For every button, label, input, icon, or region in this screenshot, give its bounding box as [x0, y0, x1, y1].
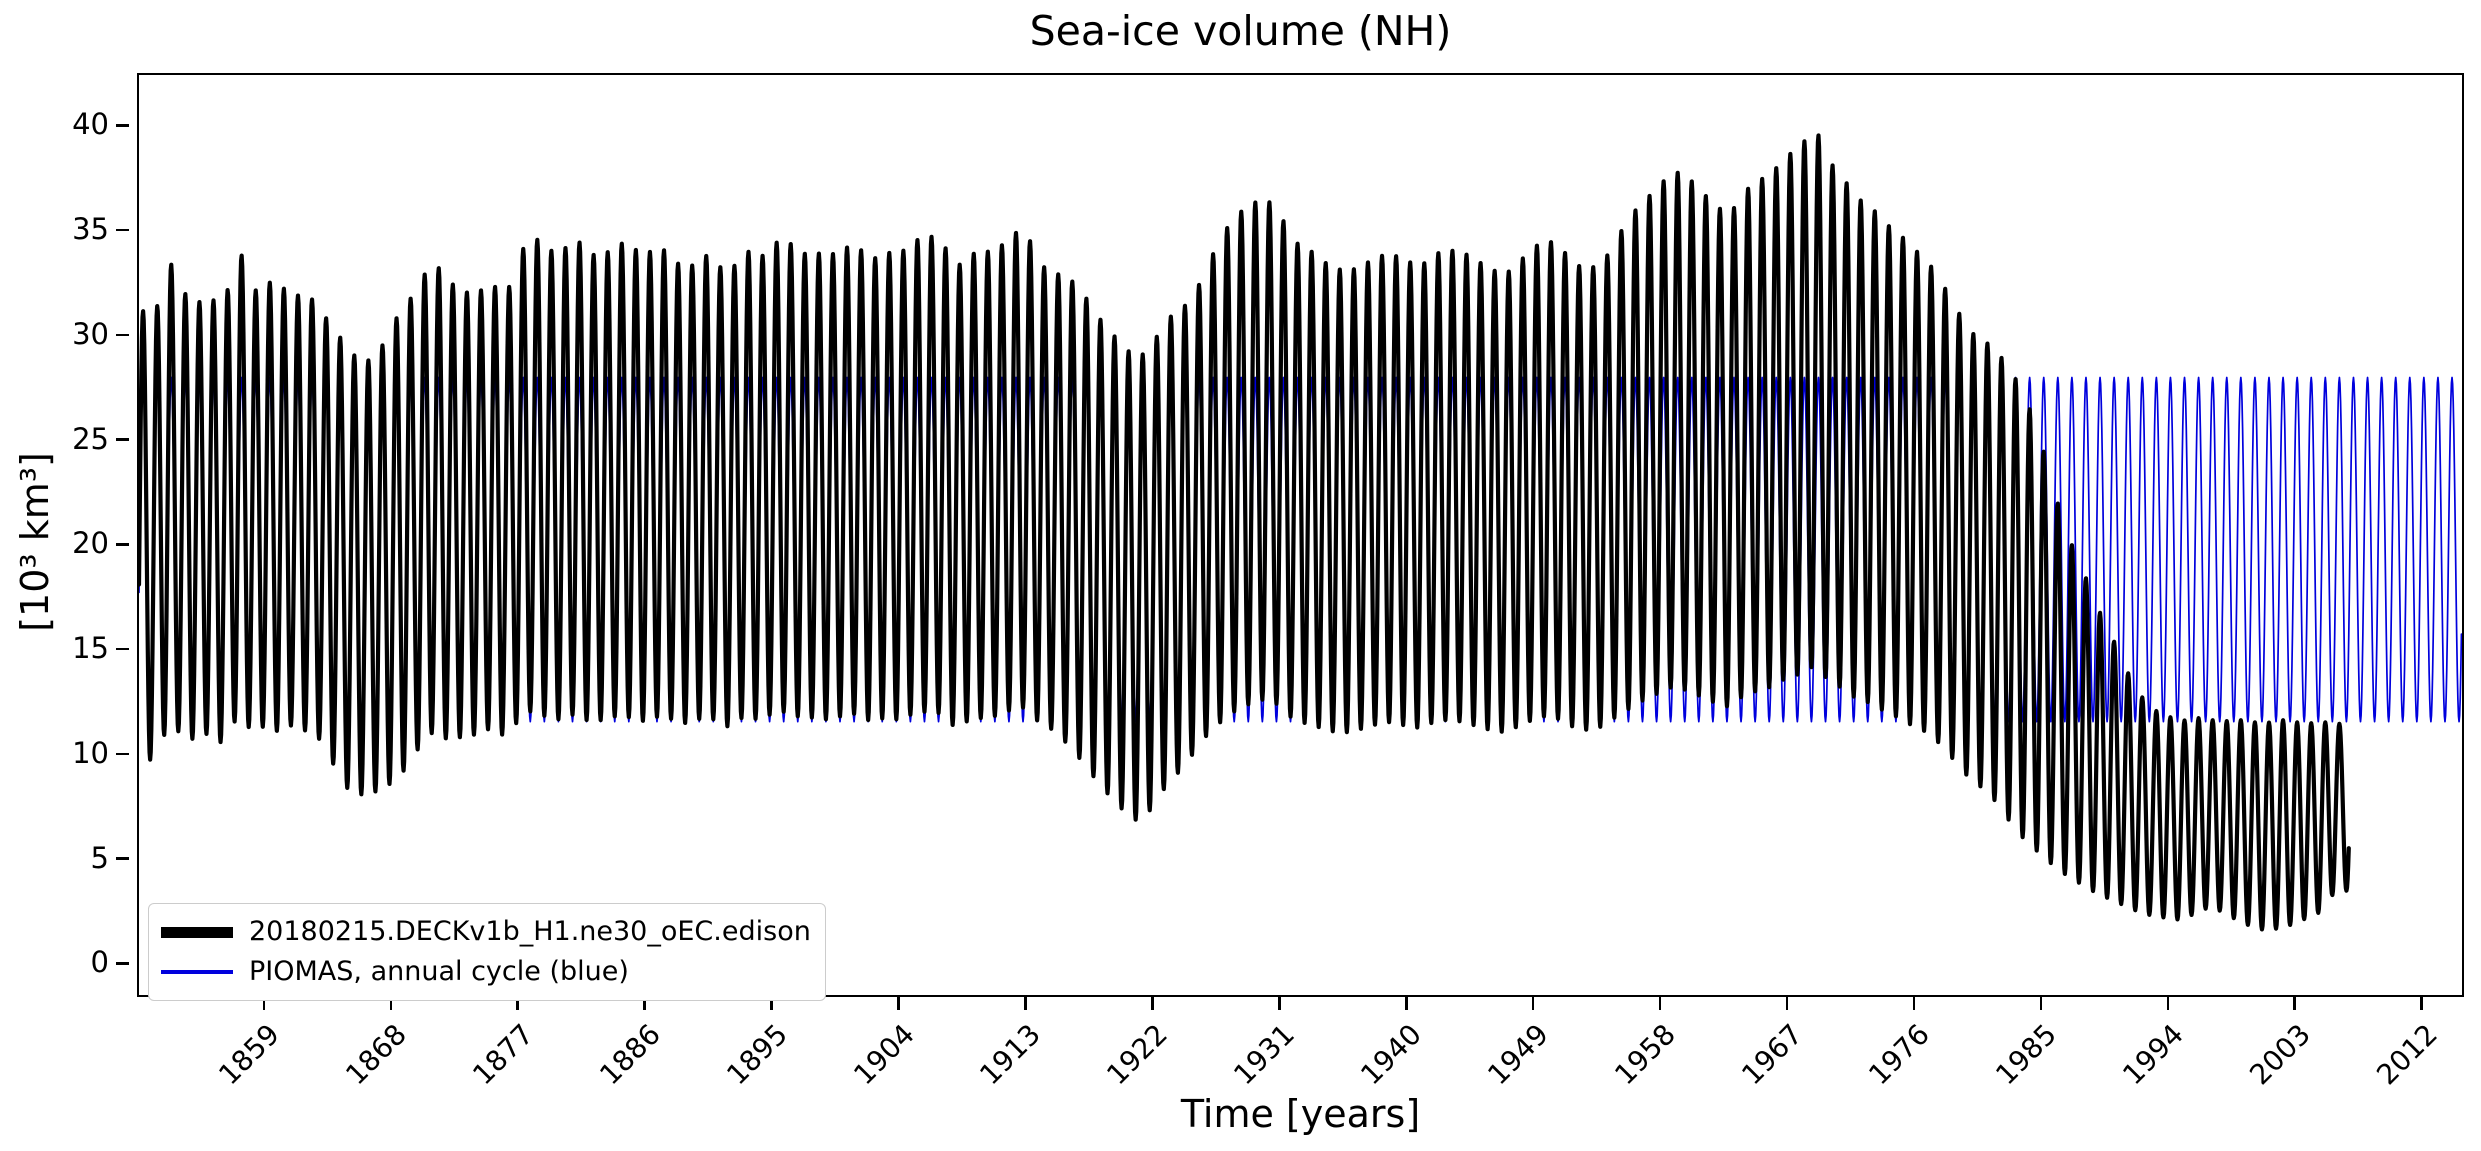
x-tick-mark [1786, 997, 1789, 1010]
x-tick-label: 1940 [1356, 1019, 1428, 1091]
x-tick-label: 1895 [721, 1019, 793, 1091]
x-tick-label: 1958 [1610, 1019, 1682, 1091]
x-axis-label: Time [years] [137, 1092, 2464, 1136]
x-tick-label: 1859 [214, 1019, 286, 1091]
x-tick-mark [1659, 997, 1662, 1010]
x-tick-mark [1405, 997, 1408, 1010]
x-tick-label: 1922 [1102, 1019, 1174, 1091]
x-tick-label: 1868 [340, 1019, 412, 1091]
x-tick-mark [2420, 997, 2423, 1010]
x-tick-label: 1985 [1991, 1019, 2063, 1091]
x-tick-mark [1278, 997, 1281, 1010]
chart-figure: Sea-ice volume (NH) 0510152025303540 185… [0, 0, 2481, 1151]
x-tick-label: 2003 [2244, 1019, 2316, 1091]
legend-item-model[interactable]: 20180215.DECKv1b_H1.ne30_oEC.edison [161, 913, 811, 951]
legend-label-piomas: PIOMAS, annual cycle (blue) [249, 957, 629, 987]
y-axis-label-text: [10³ km³] [13, 452, 57, 632]
x-tick-label: 1994 [2117, 1019, 2189, 1091]
x-tick-label: 1949 [1483, 1019, 1555, 1091]
x-tick-label: 2012 [2371, 1019, 2443, 1091]
x-tick-label: 1976 [1864, 1019, 1936, 1091]
x-tick-label: 1931 [1229, 1019, 1301, 1091]
x-tick-mark [1532, 997, 1535, 1010]
y-axis-label: [10³ km³] [13, 332, 57, 752]
x-tick-mark [1913, 997, 1916, 1010]
legend: 20180215.DECKv1b_H1.ne30_oEC.edison PIOM… [148, 903, 826, 1001]
x-tick-mark [2167, 997, 2170, 1010]
x-tick-label: 1877 [467, 1019, 539, 1091]
legend-item-piomas[interactable]: PIOMAS, annual cycle (blue) [161, 953, 811, 991]
x-tick-mark [897, 997, 900, 1010]
x-tick-mark [1024, 997, 1027, 1010]
x-tick-label: 1904 [848, 1019, 920, 1091]
x-tick-label: 1886 [594, 1019, 666, 1091]
x-tick-mark [2040, 997, 2043, 1010]
legend-label-model: 20180215.DECKv1b_H1.ne30_oEC.edison [249, 917, 811, 947]
legend-swatch-piomas-icon [161, 970, 233, 974]
legend-swatch-model-icon [161, 927, 233, 938]
x-tick-label: 1967 [1737, 1019, 1809, 1091]
x-tick-label: 1913 [975, 1019, 1047, 1091]
x-tick-mark [1151, 997, 1154, 1010]
x-tick-mark [2293, 997, 2296, 1010]
